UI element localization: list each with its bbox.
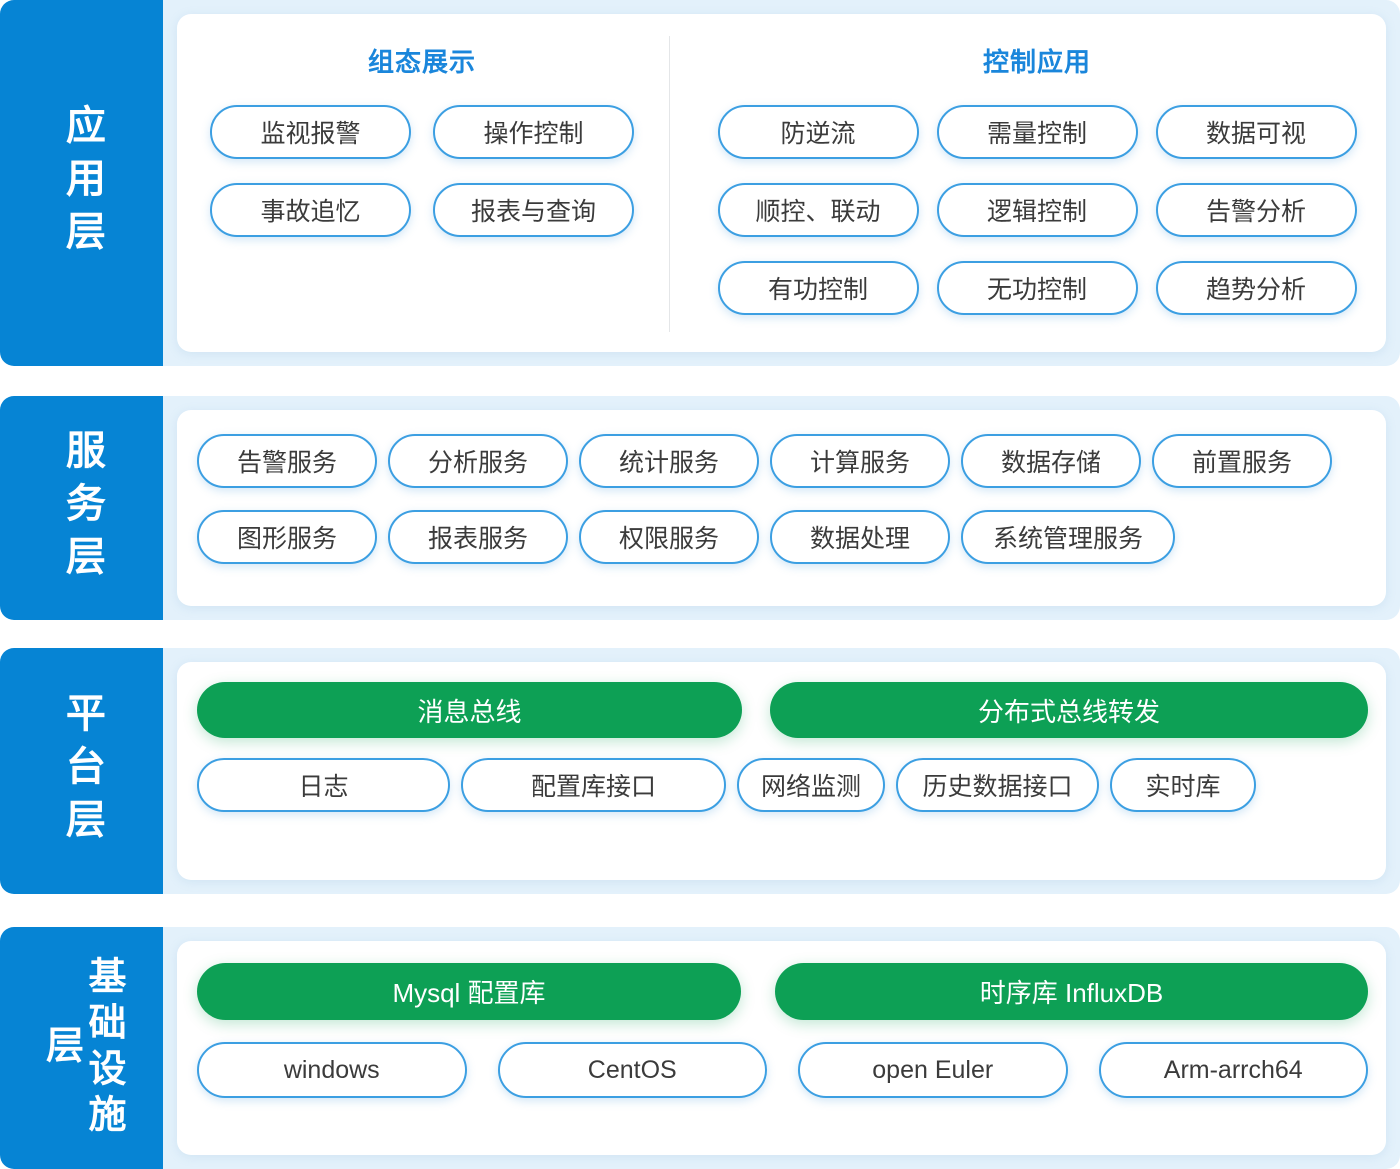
app-column-title-configuration: 组态展示	[368, 42, 476, 79]
app-pill[interactable]: 防逆流	[718, 105, 919, 159]
layer-tab-platform: 平台层	[0, 648, 163, 894]
service-pill[interactable]: 数据处理	[770, 510, 950, 564]
infrastructure-os-pill[interactable]: windows	[197, 1042, 467, 1098]
layer-card-service: 告警服务 分析服务 统计服务 计算服务 数据存储 前置服务 图形服务 报表服务 …	[177, 410, 1386, 606]
app-pill[interactable]: 数据可视	[1156, 105, 1357, 159]
app-pill[interactable]: 报表与查询	[433, 183, 634, 237]
app-column-control: 控制应用 防逆流 需量控制 数据可视 顺控、联动 逻辑控制 告警分析 有功控制 …	[669, 36, 1368, 332]
service-pill[interactable]: 图形服务	[197, 510, 377, 564]
service-pill[interactable]: 前置服务	[1152, 434, 1332, 488]
layer-card-application: 组态展示 监视报警 操作控制 事故追忆 报表与查询 控制应用 防逆流 需量控制 …	[177, 14, 1386, 352]
platform-bus-pill[interactable]: 消息总线	[197, 682, 742, 738]
layer-tab-label-platform: 平台层	[59, 692, 104, 851]
layer-tab-label-service: 服务层	[59, 429, 104, 588]
infrastructure-os-pill[interactable]: Arm-arrch64	[1099, 1042, 1369, 1098]
app-pill[interactable]: 事故追忆	[210, 183, 411, 237]
layer-card-infrastructure: Mysql 配置库 时序库 InfluxDB windows CentOS op…	[177, 941, 1386, 1155]
layer-outer-application: 组态展示 监视报警 操作控制 事故追忆 报表与查询 控制应用 防逆流 需量控制 …	[163, 0, 1400, 366]
layer-platform: 平台层 消息总线 分布式总线转发 日志 配置库接口 网络监测 历史数据接口 实时…	[0, 648, 1400, 894]
app-pill[interactable]: 逻辑控制	[937, 183, 1138, 237]
layer-tab-label-infrastructure: 基础设施层	[39, 956, 124, 1141]
infrastructure-os-pill[interactable]: CentOS	[498, 1042, 768, 1098]
service-pill[interactable]: 告警服务	[197, 434, 377, 488]
app-pill[interactable]: 告警分析	[1156, 183, 1357, 237]
app-column-title-control: 控制应用	[983, 42, 1091, 79]
app-pill-grid-control: 防逆流 需量控制 数据可视 顺控、联动 逻辑控制 告警分析 有功控制 无功控制 …	[717, 105, 1357, 315]
service-pill[interactable]: 报表服务	[388, 510, 568, 564]
layer-tab-label-application: 应用层	[59, 104, 104, 263]
platform-pill[interactable]: 网络监测	[737, 758, 885, 812]
layer-outer-service: 告警服务 分析服务 统计服务 计算服务 数据存储 前置服务 图形服务 报表服务 …	[163, 396, 1400, 620]
service-pill[interactable]: 数据存储	[961, 434, 1141, 488]
app-column-configuration: 组态展示 监视报警 操作控制 事故追忆 报表与查询	[195, 36, 669, 332]
layer-outer-infrastructure: Mysql 配置库 时序库 InfluxDB windows CentOS op…	[163, 927, 1400, 1169]
platform-pill[interactable]: 实时库	[1110, 758, 1256, 812]
service-row-2: 图形服务 报表服务 权限服务 数据处理 系统管理服务	[197, 510, 1370, 564]
layer-outer-platform: 消息总线 分布式总线转发 日志 配置库接口 网络监测 历史数据接口 实时库	[163, 648, 1400, 894]
app-pill[interactable]: 有功控制	[718, 261, 919, 315]
layer-tab-infrastructure: 基础设施层	[0, 927, 163, 1169]
infrastructure-os-pill[interactable]: open Euler	[798, 1042, 1068, 1098]
app-pill[interactable]: 趋势分析	[1156, 261, 1357, 315]
service-pill[interactable]: 系统管理服务	[961, 510, 1175, 564]
service-pill[interactable]: 分析服务	[388, 434, 568, 488]
app-pill[interactable]: 顺控、联动	[718, 183, 919, 237]
service-pill[interactable]: 权限服务	[579, 510, 759, 564]
infrastructure-os-row: windows CentOS open Euler Arm-arrch64	[197, 1042, 1368, 1098]
app-pill-grid-configuration: 监视报警 操作控制 事故追忆 报表与查询	[210, 105, 634, 237]
infrastructure-db-row: Mysql 配置库 时序库 InfluxDB	[197, 963, 1368, 1020]
infrastructure-db-pill[interactable]: Mysql 配置库	[197, 963, 741, 1020]
layer-tab-service: 服务层	[0, 396, 163, 620]
layer-infrastructure: 基础设施层 Mysql 配置库 时序库 InfluxDB windows Cen…	[0, 927, 1400, 1169]
platform-pill[interactable]: 历史数据接口	[896, 758, 1099, 812]
layer-service: 服务层 告警服务 分析服务 统计服务 计算服务 数据存储 前置服务 图形服务 报…	[0, 396, 1400, 620]
app-pill[interactable]: 监视报警	[210, 105, 411, 159]
app-pill[interactable]: 操作控制	[433, 105, 634, 159]
layer-card-platform: 消息总线 分布式总线转发 日志 配置库接口 网络监测 历史数据接口 实时库	[177, 662, 1386, 880]
layer-tab-application: 应用层	[0, 0, 163, 366]
platform-item-row: 日志 配置库接口 网络监测 历史数据接口 实时库	[197, 758, 1368, 812]
app-pill[interactable]: 无功控制	[937, 261, 1138, 315]
service-row-1: 告警服务 分析服务 统计服务 计算服务 数据存储 前置服务	[197, 434, 1370, 488]
platform-bus-row: 消息总线 分布式总线转发	[197, 682, 1368, 738]
architecture-diagram: 应用层 组态展示 监视报警 操作控制 事故追忆 报表与查询 控制应用 防逆流	[0, 0, 1400, 1169]
platform-pill[interactable]: 配置库接口	[461, 758, 726, 812]
layer-application: 应用层 组态展示 监视报警 操作控制 事故追忆 报表与查询 控制应用 防逆流	[0, 0, 1400, 366]
platform-pill[interactable]: 日志	[197, 758, 450, 812]
app-pill[interactable]: 需量控制	[937, 105, 1138, 159]
infrastructure-db-pill[interactable]: 时序库 InfluxDB	[775, 963, 1368, 1020]
platform-bus-pill[interactable]: 分布式总线转发	[770, 682, 1368, 738]
service-pill[interactable]: 统计服务	[579, 434, 759, 488]
service-pill[interactable]: 计算服务	[770, 434, 950, 488]
